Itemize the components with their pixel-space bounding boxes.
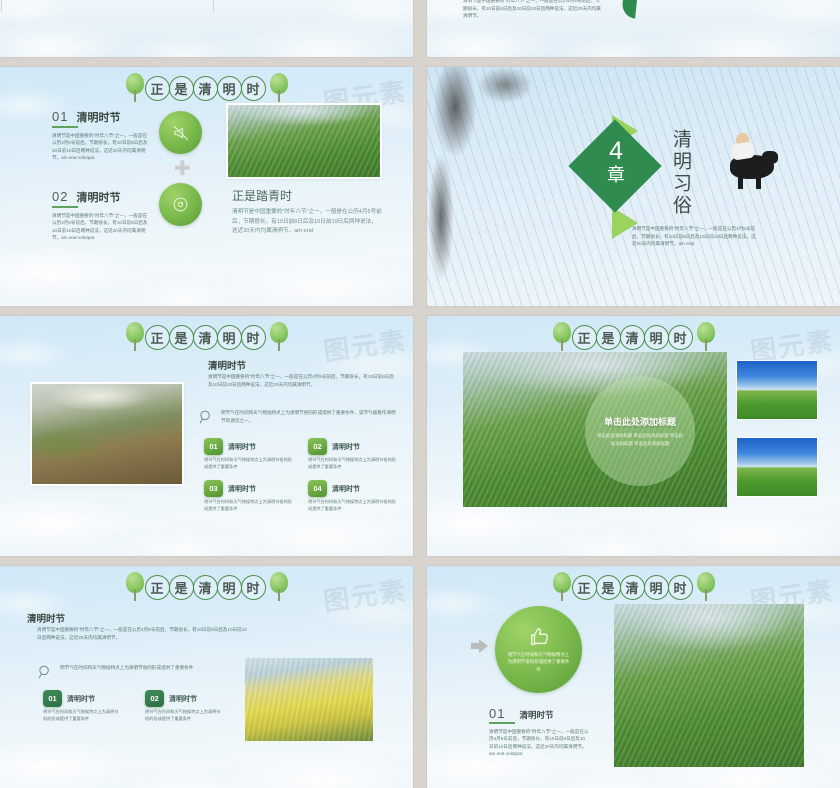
magnifier-icon [198,409,215,426]
card-02[interactable]: 02 清明时节 明节气在时间和天气物候特点上为清明节俗的形成提供了重要条件 [145,690,233,722]
thumbnail-sky-field-2[interactable] [737,438,817,496]
title-char-1: 正 [145,325,170,350]
title-char-4: 明 [644,575,669,600]
chapter-title: 清明习俗 [667,129,694,217]
point-02-rule [52,206,78,208]
card-02-desc: 明节气在时间和天气物候特点上为清明节俗的形成提供了重要条件 [145,709,221,722]
point-01-text: 清明节是中国重要的“时年八节”之一，一般是在公历4月5号前后，节期很长，有10日… [489,728,589,758]
green-brush-hook-icon [621,0,639,19]
point-02-title: 清明时节 [76,189,120,205]
chapter-number-block: 4 章 [605,139,627,186]
title-char-5: 时 [241,325,266,350]
tree-right-icon [695,572,717,602]
card-02-title: 清明时节 [169,694,197,704]
slide-two-point-plus[interactable]: 图元素 正 是 清 明 时 01 清明时节 清明节是中国重要的“时年八节”之一，… [0,67,413,306]
card-grid: 01 清明时节 明节气在时间和天气物候特点上为清明节俗的形成提供了重要条件 02… [204,438,400,513]
title-char-1: 正 [572,575,597,600]
ribbon-title: 正 是 清 明 时 [427,322,840,352]
tree-left-icon [551,322,573,352]
card-01-desc: 明节气在时间和天气物候特点上为清明节俗的形成提供了重要条件 [204,457,296,470]
point-01-title: 清明时节 [76,109,120,125]
boy-on-ox-artwork [712,129,778,191]
photo-kite-field[interactable] [32,384,182,484]
title-char-4: 明 [217,76,242,101]
overlay-subtitle: 单击此处添加标题 单击此处添加标题 单击此处添加标题 单击此处添加标题 [597,432,683,447]
note-row: 明节气在时间和天气物候特点上为清明节俗的形成提供了重要条件，该节气被看作清明节的… [198,409,398,426]
chapter-text: 清明节是中国重要的“时年八节”之一，一般是在公历4月5号前后，节期很长，有10日… [632,225,757,248]
point-01-number: 01 [52,109,68,124]
slide-kite-four-cards[interactable]: 图元素 正 是 清 明 时 清明时节 清明节是中国重要的“时年八节”之一，一般是… [0,316,413,556]
ribbon-title: 正 是 清 明 时 [0,73,413,103]
card-03-title: 清明时节 [228,484,256,494]
slide-top-right-partial[interactable]: 清明时节 清明节是中国重要的“时年八节”之一，一般是在公历4月5号前后，节期很长… [427,0,840,57]
section-heading: 清明时节 [27,611,65,625]
tree-right-icon [268,572,290,602]
title-char-1: 正 [572,325,597,350]
note-row: 明节气在时间和天气物候特点上为清明节俗的形成提供了重要条件 [37,664,217,681]
chapter-number: 4 [605,139,627,164]
point-01-number: 01 [489,706,505,721]
point-01-rule [489,722,515,724]
section-text: 清明节是中国重要的“时年八节”之一，一般是在公历4月5号前后，节期很长，有10日… [37,626,247,641]
title-char-3: 清 [620,325,645,350]
section-heading: 清明时节 [208,358,246,372]
card-01[interactable]: 01 清明时节 明节气在时间和天气物候特点上为清明节俗的形成提供了重要条件 [43,690,131,722]
photo-tea-terrace[interactable] [228,105,380,177]
card-02-desc: 明节气在时间和天气物候特点上为清明节俗的形成提供了重要条件 [308,457,400,470]
tree-right-icon [268,73,290,103]
slide-chapter-4[interactable]: 4 章 清明习俗 清明节是中国重要的“时年八节”之一，一般是在公历4月5号前后，… [427,67,840,306]
point-01-text: 清明节是中国重要的“时年八节”之一，一般是在公历4月5号前后，节期很长，有10日… [52,132,150,162]
point-02-number: 02 [52,189,68,204]
megaphone-icon-circle[interactable] [159,111,202,154]
title-char-2: 是 [169,325,194,350]
title-char-4: 明 [217,575,242,600]
bubble-text: 明节气在时间和天气物候特点上为清明节俗的形成提供了重要条件 [508,651,570,673]
compass-icon-circle[interactable] [159,183,202,226]
magnifier-icon [37,664,54,681]
title-char-3: 清 [620,575,645,600]
slide-top-left-partial[interactable]: 清明节是中国重要的“时年八节”之一，一般是在公历4月5号前后，节期很长，有10日… [0,0,413,57]
title-char-5: 时 [668,325,693,350]
compass-icon [172,196,189,213]
slide-thumbup-one-card[interactable]: 图元素 正 是 清 明 时 明节气在时间和天气物候特点上为清明节俗的形成提供了重… [427,566,840,788]
title-char-4: 明 [217,325,242,350]
card-01[interactable]: 01 清明时节 明节气在时间和天气物候特点上为清明节俗的形成提供了重要条件 [204,438,296,470]
chapter-unit: 章 [605,166,627,186]
title-char-2: 是 [169,76,194,101]
card-04[interactable]: 04 清明时节 明节气在时间和天气物候特点上为清明节俗的形成提供了重要条件 [308,480,400,512]
point-01[interactable]: 01 清明时节 清明节是中国重要的“时年八节”之一，一般是在公历4月5号前后，节… [52,109,150,162]
ink-willow-artwork [427,67,562,306]
title-char-5: 时 [241,76,266,101]
card-03-badge: 03 [204,480,223,497]
tree-left-icon [124,322,146,352]
section-text: 清明节是中国重要的“时年八节”之一，一般是在公历4月5号前后，节期很长，有10日… [208,373,398,388]
overlay-circle[interactable]: 单击此处添加标题 单击此处添加标题 单击此处添加标题 单击此处添加标题 单击此处… [585,376,695,486]
card-02-badge: 02 [145,690,164,707]
tree-left-icon [124,73,146,103]
megaphone-icon [172,124,190,142]
title-char-2: 是 [169,575,194,600]
partial-body-text: 清明节是中国重要的“时年八节”之一，一般是在公历4月5号前后，节期很长，有10日… [463,0,603,20]
slide-grid: 清明节是中国重要的“时年八节”之一，一般是在公历4月5号前后，节期很长，有10日… [0,0,840,788]
tree-left-icon [124,572,146,602]
title-char-2: 是 [596,575,621,600]
title-char-1: 正 [145,575,170,600]
card-01-title: 清明时节 [228,442,256,452]
photo-caption-title: 正是踏青时 [232,187,292,204]
title-char-3: 清 [193,325,218,350]
card-01-badge: 01 [204,438,223,455]
ribbon-title: 正 是 清 明 时 [427,572,840,602]
title-char-1: 正 [145,76,170,101]
title-char-3: 清 [193,575,218,600]
title-char-2: 是 [596,325,621,350]
point-01[interactable]: 01 清明时节 清明节是中国重要的“时年八节”之一，一般是在公历4月5号前后，节… [489,706,599,758]
card-01-title: 清明时节 [67,694,95,704]
photo-caption-text: 清明节是中国重要的“时年八节”之一，一般是在公历4月5号前后，节期很长，有10日… [232,208,382,237]
card-01-desc: 明节气在时间和天气物候特点上为清明节俗的形成提供了重要条件 [43,709,119,722]
title-char-5: 时 [241,575,266,600]
overlay-title: 单击此处添加标题 [604,415,676,428]
photo-tea-hill[interactable] [614,604,804,767]
slide-rape-two-cards[interactable]: 图元素 正 是 清 明 时 清明时节 清明节是中国重要的“时年八节”之一，一般是… [0,566,413,788]
card-03-desc: 明节气在时间和天气物候特点上为清明节俗的形成提供了重要条件 [204,499,296,512]
point-01-rule [52,126,78,128]
card-02[interactable]: 02 清明时节 明节气在时间和天气物候特点上为清明节俗的形成提供了重要条件 [308,438,400,470]
pointer-arrow [471,639,488,653]
column-divider-2 [213,0,214,12]
title-char-3: 清 [193,76,218,101]
slide-photo-overlay[interactable]: 图元素 正 是 清 明 时 单击此处添加标题 单击此处添加标题 单击此处添加标题… [427,316,840,556]
tree-right-icon [695,322,717,352]
point-02[interactable]: 02 清明时节 清明节是中国重要的“时年八节”之一，一般是在公历4月5号前后，节… [52,189,150,242]
thumbs-up-bubble[interactable]: 明节气在时间和天气物候特点上为清明节俗的形成提供了重要条件 [495,606,582,693]
card-04-title: 清明时节 [332,484,360,494]
note-text: 明节气在时间和天气物候特点上为清明节俗的形成提供了重要条件 [60,664,193,672]
title-char-5: 时 [668,575,693,600]
note-text: 明节气在时间和天气物候特点上为清明节俗的形成提供了重要条件，该节气被看作清明节的… [221,409,398,424]
tree-right-icon [268,322,290,352]
tree-left-icon [551,572,573,602]
point-01-title: 清明时节 [519,709,553,721]
card-grid: 01 清明时节 明节气在时间和天气物候特点上为清明节俗的形成提供了重要条件 02… [43,690,233,722]
point-02-text: 清明节是中国重要的“时年八节”之一，一般是在公历4月5号前后，节期很长，有10日… [52,212,150,242]
card-02-badge: 02 [308,438,327,455]
card-04-badge: 04 [308,480,327,497]
photo-rape-field[interactable] [245,658,373,741]
ribbon-title: 正 是 清 明 时 [0,322,413,352]
thumbnail-grid-page: 清明节是中国重要的“时年八节”之一，一般是在公历4月5号前后，节期很长，有10日… [0,0,840,788]
column-divider [1,0,2,12]
card-04-desc: 明节气在时间和天气物候特点上为清明节俗的形成提供了重要条件 [308,499,400,512]
ribbon-title: 正 是 清 明 时 [0,572,413,602]
title-char-4: 明 [644,325,669,350]
card-02-title: 清明时节 [332,442,360,452]
plus-icon: ✚ [174,159,191,179]
card-01-badge: 01 [43,690,62,707]
cloud-texture [0,0,413,57]
thumbnail-sky-field-1[interactable] [737,361,817,419]
card-03[interactable]: 03 清明时节 明节气在时间和天气物候特点上为清明节俗的形成提供了重要条件 [204,480,296,512]
thumbs-up-icon [528,626,550,648]
